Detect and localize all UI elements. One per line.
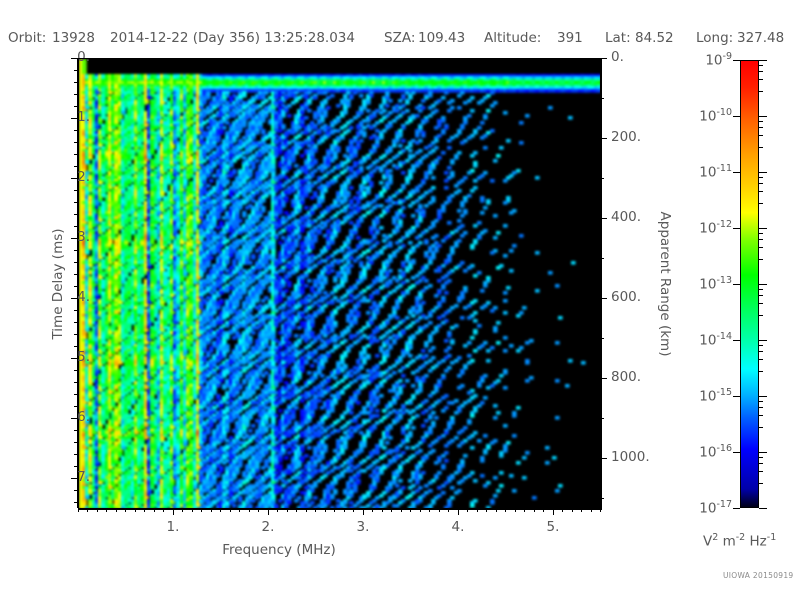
left-tick-label-0: 0. [30, 49, 90, 65]
left-tick-label-2: 2. [30, 169, 90, 185]
colorbar-tick-label-2: 10-11 [672, 163, 732, 181]
right-axis-spine [600, 58, 601, 508]
long-value: 327.48 [737, 30, 784, 46]
colorbar-minor-tick [759, 147, 763, 148]
colorbar-major-tick-left [733, 284, 740, 285]
colorbar-tick-mantissa-3: 10 [699, 221, 716, 237]
colorbar-major-tick-left [733, 116, 740, 117]
colorbar-major-tick-left [733, 340, 740, 341]
colorbar-major-tick-left [733, 396, 740, 397]
unit-m-exp: -2 [736, 532, 745, 543]
colorbar-minor-tick [759, 259, 763, 260]
left-tick-label-1: 1. [30, 109, 90, 125]
colorbar-minor-tick [759, 471, 763, 472]
credit-text: UIOWA 20150919 [723, 571, 794, 580]
left-tick-label-7: 7. [30, 469, 90, 485]
unit-hz-exp: -1 [767, 532, 776, 543]
colorbar-major-tick-right [759, 396, 767, 397]
colorbar-minor-tick [759, 71, 763, 72]
colorbar-major-tick-right [759, 340, 767, 341]
colorbar-tick-label-1: 10-10 [672, 107, 732, 125]
colorbar-major-tick-left [733, 508, 740, 509]
colorbar-tick-mantissa-8: 10 [699, 501, 716, 517]
colorbar-tick-label-8: 10-17 [672, 499, 732, 517]
colorbar-major-tick-right [759, 228, 767, 229]
colorbar-minor-tick [759, 191, 763, 192]
colorbar-major-tick-left [733, 172, 740, 173]
right-tick-label-0: 0. [611, 49, 671, 65]
colorbar-tick-exponent-0: -9 [723, 51, 732, 62]
left-axis-spine [77, 58, 78, 508]
colorbar-minor-tick [759, 351, 763, 352]
colorbar-tick-exponent-7: -16 [716, 443, 732, 454]
colorbar-minor-tick [759, 183, 763, 184]
colorbar-minor-tick [759, 457, 763, 458]
unit-v: V [703, 534, 712, 550]
colorbar-major-tick-left [733, 228, 740, 229]
right-major-tick [600, 58, 607, 59]
colorbar-major-tick-right [759, 452, 767, 453]
colorbar-minor-tick [759, 303, 763, 304]
colorbar-tick-mantissa-7: 10 [699, 445, 716, 461]
bottom-tick-label-1: 2. [238, 519, 298, 535]
colorbar-unit-label: V2 m-2 Hz-1 [703, 532, 776, 550]
right-major-tick [600, 218, 607, 219]
colorbar-minor-tick [759, 233, 763, 234]
unit-hz: Hz [750, 534, 767, 550]
right-tick-label-5: 1000. [611, 449, 671, 465]
colorbar-major-tick-right [759, 284, 767, 285]
bottom-major-tick [553, 508, 554, 515]
colorbar-major-tick-left [733, 60, 740, 61]
colorbar-tick-mantissa-6: 10 [699, 389, 716, 405]
colorbar-gradient [740, 60, 759, 508]
colorbar-minor-tick [759, 345, 763, 346]
colorbar-tick-label-0: 10-9 [672, 51, 732, 69]
bottom-tick-label-4: 5. [523, 519, 583, 535]
colorbar-minor-tick [759, 65, 763, 66]
colorbar-major-tick-left [733, 452, 740, 453]
colorbar-minor-tick [759, 315, 763, 316]
date-time-value: 2014-12-22 (Day 356) 13:25:28.034 [110, 30, 355, 46]
colorbar-tick-exponent-2: -11 [716, 163, 732, 174]
colorbar-minor-tick [759, 483, 763, 484]
colorbar-tick-exponent-4: -13 [716, 275, 732, 286]
colorbar-minor-tick [759, 79, 763, 80]
colorbar-minor-tick [759, 91, 763, 92]
sza-label: SZA: [384, 30, 415, 46]
orbit-label: Orbit: [8, 30, 46, 46]
colorbar-tick-exponent-6: -15 [716, 387, 732, 398]
colorbar-tick-label-5: 10-14 [672, 331, 732, 349]
bottom-major-tick [458, 508, 459, 515]
unit-v-exp: 2 [712, 532, 718, 543]
colorbar-tick-label-6: 10-15 [672, 387, 732, 405]
right-tick-label-1: 200. [611, 129, 671, 145]
colorbar-minor-tick [759, 415, 763, 416]
bottom-tick-label-2: 3. [333, 519, 393, 535]
colorbar-minor-tick [759, 407, 763, 408]
colorbar-tick-mantissa-0: 10 [705, 53, 722, 69]
colorbar-tick-exponent-5: -14 [716, 331, 732, 342]
top-axis-spine [78, 58, 600, 59]
right-major-tick [600, 458, 607, 459]
right-major-tick [600, 378, 607, 379]
altitude-value: 391 [557, 30, 583, 46]
colorbar-minor-tick [759, 463, 763, 464]
colorbar-tick-label-7: 10-16 [672, 443, 732, 461]
bottom-tick-label-0: 1. [143, 519, 203, 535]
bottom-major-tick [363, 508, 364, 515]
right-major-tick [600, 138, 607, 139]
colorbar-minor-tick [759, 289, 763, 290]
left-tick-label-6: 6. [30, 409, 90, 425]
colorbar-minor-tick [759, 295, 763, 296]
colorbar-major-tick-right [759, 508, 767, 509]
colorbar-tick-exponent-1: -10 [716, 107, 732, 118]
bottom-axis-title: Frequency (MHz) [199, 542, 359, 558]
bottom-major-tick [268, 508, 269, 515]
colorbar-minor-tick [759, 427, 763, 428]
colorbar-major-tick-right [759, 116, 767, 117]
altitude-label: Altitude: [484, 30, 541, 46]
colorbar-minor-tick [759, 121, 763, 122]
colorbar-tick-mantissa-1: 10 [699, 109, 716, 125]
ionogram-figure: Orbit: 13928 2014-12-22 (Day 356) 13:25:… [0, 0, 800, 600]
right-axis-title: Apparent Range (km) [657, 194, 673, 374]
colorbar-tick-exponent-8: -17 [716, 499, 732, 510]
colorbar-minor-tick [759, 247, 763, 248]
colorbar-tick-label-3: 10-12 [672, 219, 732, 237]
ionogram-heatmap [78, 58, 602, 510]
colorbar-major-tick-right [759, 172, 767, 173]
bottom-minor-tick [600, 508, 601, 512]
sza-value: 109.43 [418, 30, 465, 46]
colorbar-minor-tick [759, 127, 763, 128]
colorbar-minor-tick [759, 239, 763, 240]
colorbar-minor-tick [759, 203, 763, 204]
heatmap-canvas [79, 59, 601, 509]
colorbar-tick-label-4: 10-13 [672, 275, 732, 293]
orbit-value: 13928 [52, 30, 95, 46]
colorbar-minor-tick [759, 177, 763, 178]
colorbar-minor-tick [759, 135, 763, 136]
bottom-tick-label-3: 4. [428, 519, 488, 535]
colorbar-major-tick-right [759, 60, 767, 61]
bottom-axis-spine [78, 508, 600, 509]
lat-label: Lat: [605, 30, 631, 46]
colorbar-tick-exponent-3: -12 [716, 219, 732, 230]
lat-value: 84.52 [635, 30, 674, 46]
header-metadata: Orbit: 13928 2014-12-22 (Day 356) 13:25:… [0, 30, 800, 48]
left-axis-title: Time Delay (ms) [50, 204, 66, 364]
colorbar-tick-mantissa-5: 10 [699, 333, 716, 349]
colorbar-tick-mantissa-4: 10 [699, 277, 716, 293]
unit-m: m [723, 534, 736, 550]
long-label: Long: [696, 30, 733, 46]
colorbar-minor-tick [759, 371, 763, 372]
colorbar-tick-mantissa-2: 10 [699, 165, 716, 181]
colorbar-minor-tick [759, 401, 763, 402]
right-major-tick [600, 298, 607, 299]
colorbar-minor-tick [759, 359, 763, 360]
